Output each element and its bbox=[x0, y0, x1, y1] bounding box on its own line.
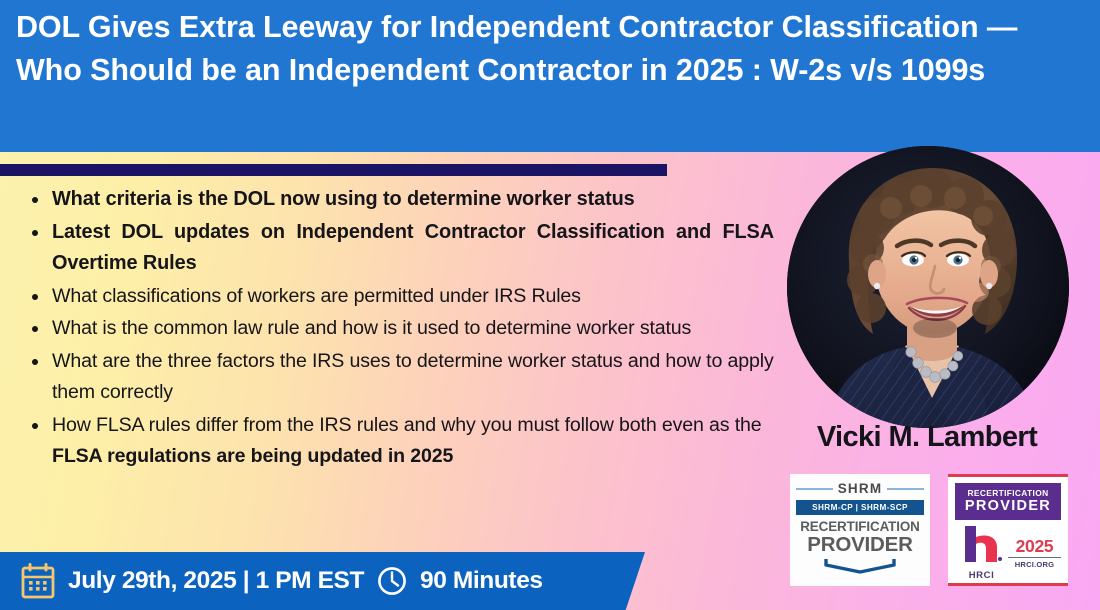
shrm-badge: SHRM SHRM-CP | SHRM-SCP RECERTIFICATION … bbox=[790, 474, 930, 586]
list-item: How FLSA rules differ from the IRS rules… bbox=[40, 410, 774, 473]
hrci-year-block: 2025 HRCI.ORG bbox=[1008, 537, 1061, 569]
accent-divider bbox=[0, 164, 667, 176]
calendar-icon bbox=[21, 563, 55, 599]
avatar bbox=[787, 146, 1069, 428]
page-title: DOL Gives Extra Leeway for Independent C… bbox=[16, 6, 1076, 92]
schedule-bar: July 29th, 2025 | 1 PM EST 90 Minutes bbox=[0, 552, 645, 610]
hrci-org-label: HRCI bbox=[955, 570, 1008, 581]
event-duration: 90 Minutes bbox=[420, 567, 543, 595]
credential-badges: SHRM SHRM-CP | SHRM-SCP RECERTIFICATION … bbox=[784, 474, 1074, 588]
hrci-header: RECERTIFICATION PROVIDER bbox=[955, 483, 1061, 520]
clock-icon bbox=[377, 566, 407, 596]
hrci-h-logo-icon bbox=[959, 524, 1005, 564]
divider-line-left bbox=[796, 488, 833, 490]
hrci-url: HRCI.ORG bbox=[1008, 557, 1061, 569]
webinar-promo-banner: DOL Gives Extra Leeway for Independent C… bbox=[0, 0, 1100, 610]
hrci-recertification-label: RECERTIFICATION bbox=[955, 488, 1061, 498]
shrm-brand: SHRM bbox=[838, 481, 883, 496]
header-bar: DOL Gives Extra Leeway for Independent C… bbox=[0, 0, 1100, 152]
shrm-certifications: SHRM-CP | SHRM-SCP bbox=[796, 500, 924, 515]
hrci-logo-block: HRCI bbox=[955, 524, 1008, 581]
shrm-recertification-label: RECERTIFICATION bbox=[800, 519, 920, 534]
list-item: Latest DOL updates on Independent Contra… bbox=[40, 217, 774, 280]
event-date-time: July 29th, 2025 | 1 PM EST bbox=[68, 567, 364, 595]
shrm-brand-row: SHRM bbox=[796, 481, 924, 496]
list-item: What are the three factors the IRS uses … bbox=[40, 346, 774, 409]
hrci-year: 2025 bbox=[1008, 537, 1061, 556]
list-item-emphasis: FLSA regulations are being updated in 20… bbox=[52, 445, 453, 467]
agenda-list: What criteria is the DOL now using to de… bbox=[14, 184, 774, 474]
hrci-badge: RECERTIFICATION PROVIDER HRCI 2025 HRCI.… bbox=[948, 474, 1068, 586]
hrci-body: HRCI 2025 HRCI.ORG bbox=[955, 520, 1061, 581]
list-item: What criteria is the DOL now using to de… bbox=[40, 184, 774, 216]
list-item-text: How FLSA rules differ from the IRS rules… bbox=[52, 414, 762, 436]
list-item: What classifications of workers are perm… bbox=[40, 281, 774, 313]
hrci-provider-label: PROVIDER bbox=[955, 498, 1061, 514]
chevron-down-icon bbox=[823, 557, 897, 575]
speaker-name: Vicki M. Lambert bbox=[772, 421, 1082, 454]
speaker-portrait-illustration bbox=[787, 146, 1069, 428]
shrm-provider-label: PROVIDER bbox=[807, 534, 912, 556]
list-item: What is the common law rule and how is i… bbox=[40, 313, 774, 345]
divider-line-right bbox=[887, 488, 924, 490]
